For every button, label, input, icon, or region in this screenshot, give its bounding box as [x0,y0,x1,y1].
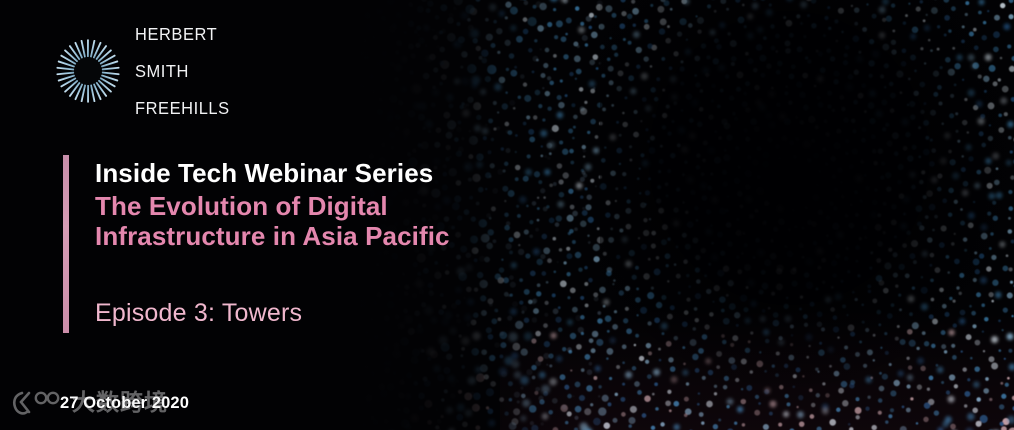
series-title: Inside Tech Webinar Series [95,158,525,188]
brand-logo: HERBERT SMITH FREEHILLS [55,6,236,136]
main-title-line-2: Infrastructure in Asia Pacific [95,221,525,251]
main-title-line-1: The Evolution of Digital [95,191,525,221]
main-title: The Evolution of Digital Infrastructure … [95,191,525,251]
brand-wordmark-line-1: HERBERT [135,25,230,44]
sunburst-radial-logo-icon [55,38,121,104]
brand-wordmark: HERBERT SMITH FREEHILLS [135,6,230,136]
pink-accent-bar [63,155,69,333]
episode-label: Episode 3: Towers [95,299,525,328]
event-date: 27 October 2020 [60,394,189,413]
brand-wordmark-line-3: FREEHILLS [135,99,230,118]
brand-wordmark-line-2: SMITH [135,62,230,81]
webinar-title-slide: HERBERT SMITH FREEHILLS Inside Tech Webi… [0,0,1014,430]
slide-text-block: Inside Tech Webinar Series The Evolution… [95,158,525,328]
